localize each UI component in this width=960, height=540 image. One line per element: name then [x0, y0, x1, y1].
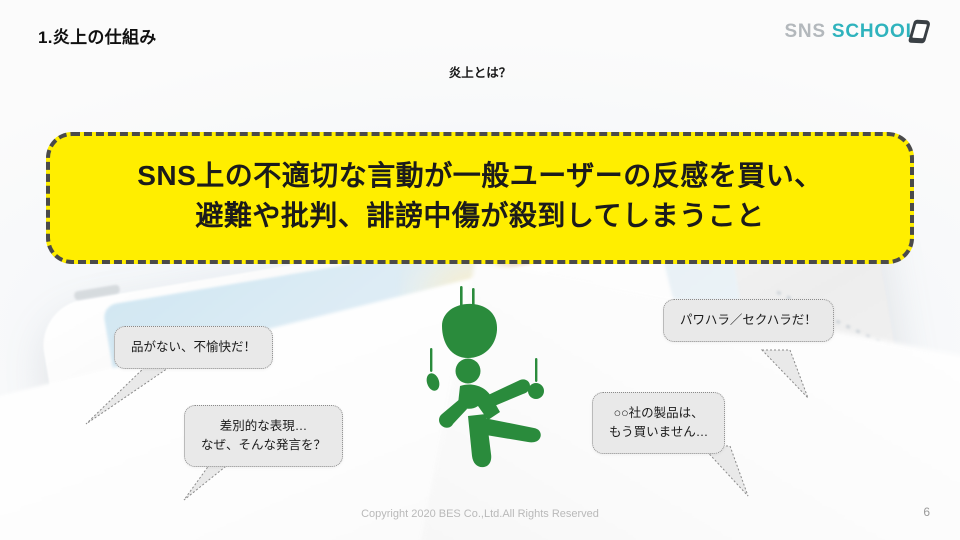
bubble-tail-powerhara — [760, 348, 880, 418]
illustration-person-pelted — [420, 286, 560, 476]
logo-text-school: SCHOOL — [832, 21, 918, 43]
bubble-line: 差別的な表現… — [201, 417, 326, 436]
definition-line-1: SNS上の不適切な言動が一般ユーザーの反感を買い、 — [72, 156, 888, 196]
section-subtitle: 炎上とは？ — [0, 62, 960, 81]
bubble-seihin: ○○社の製品は、 もう買いません… — [592, 392, 725, 454]
slide-canvas: 1.炎上の仕組み SNS SCHOOL 炎上とは？ SNS上の不適切な言動が一般… — [0, 0, 960, 540]
brand-logo: SNS SCHOOL — [784, 20, 928, 43]
bubble-line: 品がない、不愉快だ！ — [131, 338, 256, 357]
definition-callout: SNS上の不適切な言動が一般ユーザーの反感を買い、 避難や批判、誹謗中傷が殺到し… — [46, 132, 914, 264]
bubble-tail-seihin — [700, 444, 820, 514]
bubble-line: もう買いません… — [609, 423, 708, 442]
bubble-line: パワハラ／セクハラだ！ — [680, 311, 817, 330]
page-number: 6 — [923, 505, 930, 519]
copyright-notice: Copyright 2020 BES Co.,Ltd.All Rights Re… — [0, 508, 960, 520]
bubble-powerhara: パワハラ／セクハラだ！ — [663, 299, 834, 342]
bubble-sabetsu: 差別的な表現… なぜ、そんな発言を？ — [184, 405, 343, 467]
logo-text-sns: SNS — [784, 21, 825, 43]
page-title: 1.炎上の仕組み — [38, 23, 157, 48]
bubble-line: ○○社の製品は、 — [609, 404, 708, 423]
definition-line-2: 避難や批判、誹謗中傷が殺到してしまうこと — [72, 196, 888, 236]
bubble-hingaranai: 品がない、不愉快だ！ — [114, 326, 273, 369]
person-pelted-svg — [420, 286, 560, 476]
bubble-line: なぜ、そんな発言を？ — [201, 436, 326, 455]
